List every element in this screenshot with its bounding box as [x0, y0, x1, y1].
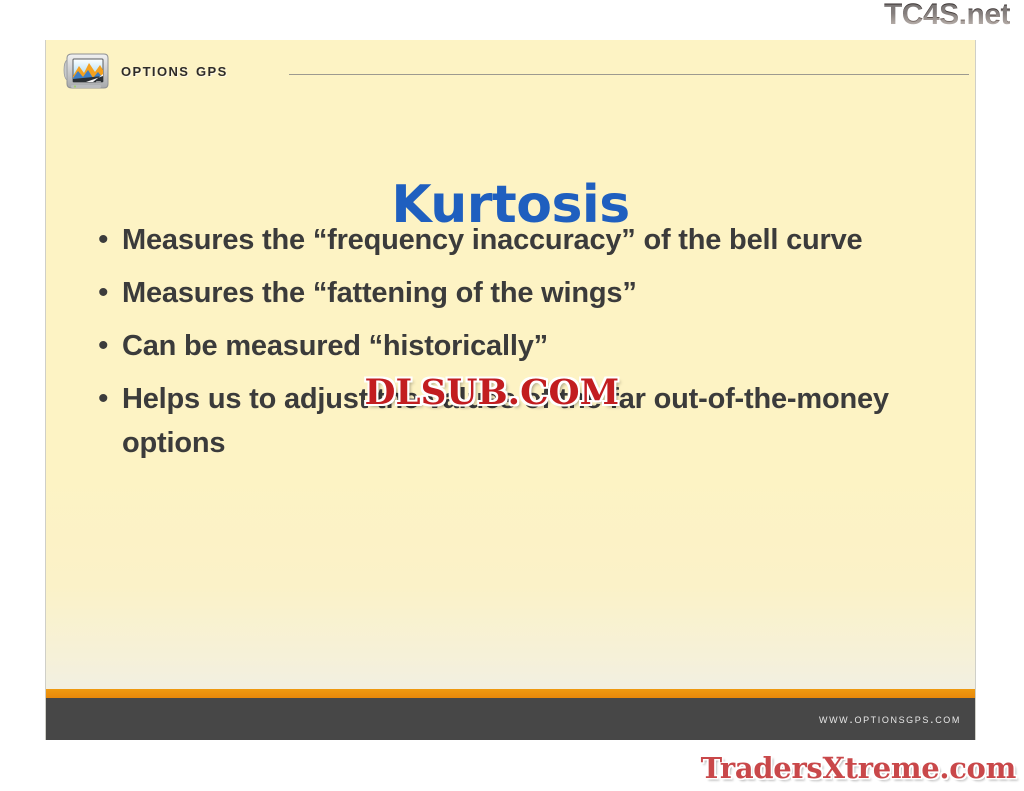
list-item-text: Measures the “frequency inaccuracy” of t…	[122, 218, 912, 262]
bullet-marker-icon: •	[98, 218, 122, 262]
list-item-text: Measures the “fattening of the wings”	[122, 271, 912, 315]
footer-website-url: www.OptionsGPS.com	[819, 711, 961, 726]
list-item: • Measures the “fattening of the wings”	[98, 271, 945, 315]
bullet-list: • Measures the “frequency inaccuracy” of…	[98, 218, 945, 474]
list-item: • Can be measured “historically”	[98, 324, 945, 368]
bullet-marker-icon: •	[98, 377, 122, 421]
brand-label-options-gps: Options GPS	[121, 60, 228, 82]
slide-footer: www.OptionsGPS.com	[46, 698, 975, 740]
gps-device-chart-icon	[62, 52, 110, 92]
footer-accent-bar	[46, 689, 975, 698]
list-item-text: Can be measured “historically”	[122, 324, 912, 368]
watermark-dlsub: DLSUB.COM	[365, 372, 620, 413]
header-divider-rule	[289, 74, 969, 75]
bullet-marker-icon: •	[98, 271, 122, 315]
bullet-marker-icon: •	[98, 324, 122, 368]
site-brand-tc4s: TC4S.net	[884, 0, 1010, 32]
list-item: • Measures the “frequency inaccuracy” of…	[98, 218, 945, 262]
partner-brand-tradersxtreme: TradersXtreme.com	[701, 751, 1016, 785]
slide-header: Options GPS	[46, 40, 975, 102]
slide-screenshot-root: { "page": { "site_brand": "TC4S.net", "p…	[0, 0, 1024, 791]
